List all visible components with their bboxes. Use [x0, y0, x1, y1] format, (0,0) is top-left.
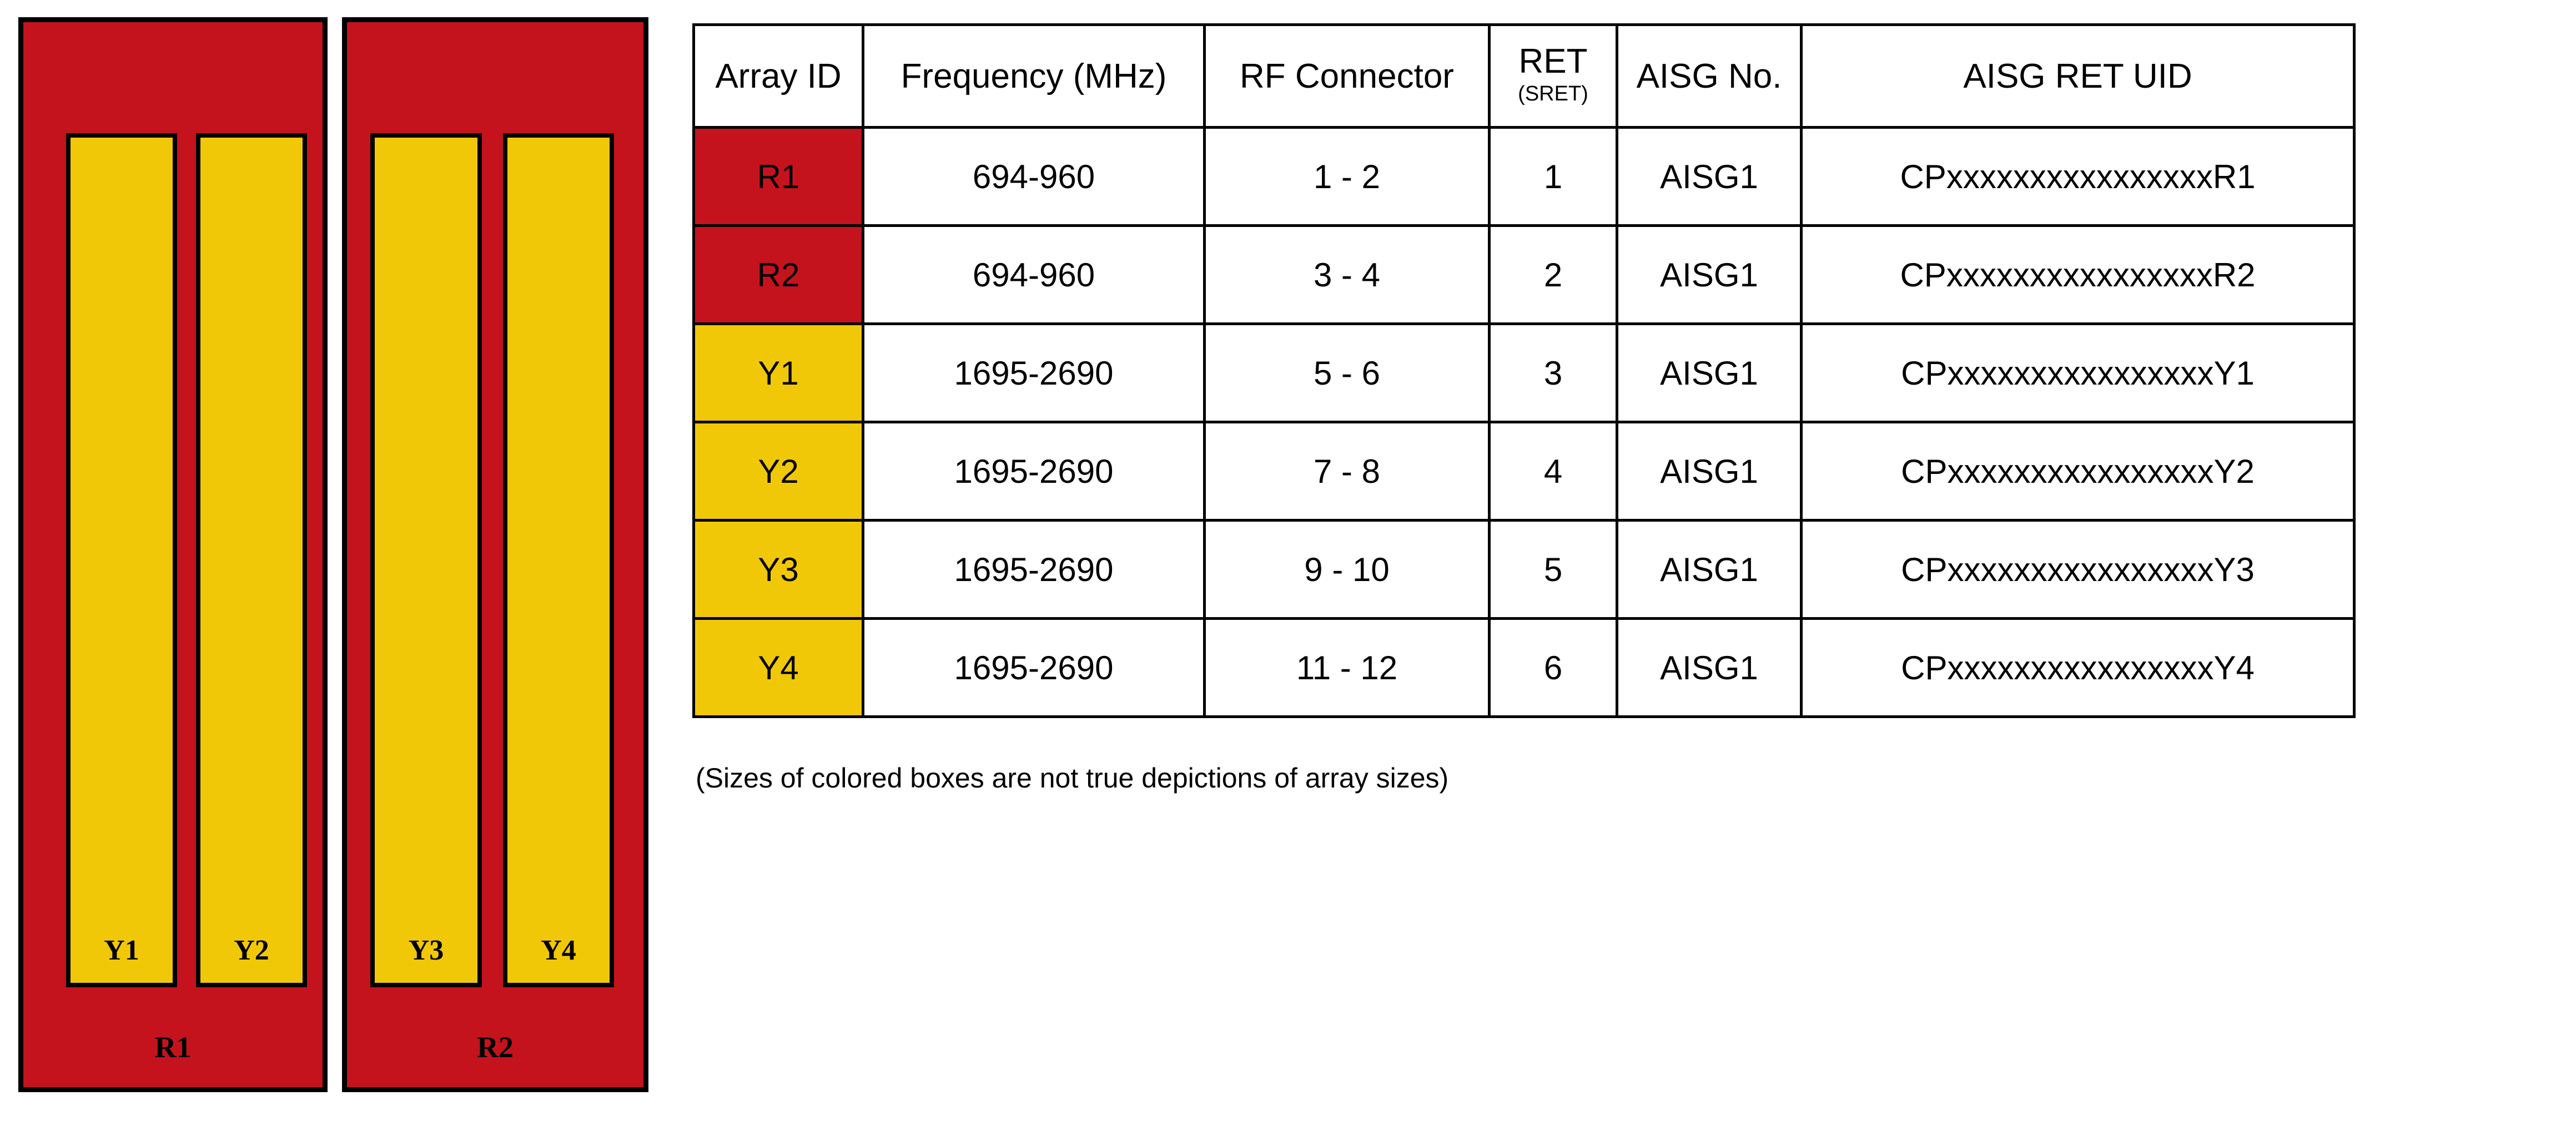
- array-bar-y2: Y2: [196, 133, 307, 987]
- array-bar-y1: Y1: [66, 133, 177, 987]
- table-row: R1694-9601 - 21AISG1CPxxxxxxxxxxxxxxxxR1: [694, 128, 2354, 226]
- antenna-panel-r1: Y1 Y2 R1: [18, 17, 328, 1092]
- table-row: Y21695-26907 - 84AISG1CPxxxxxxxxxxxxxxxx…: [694, 422, 2354, 521]
- cell-aisg-no: AISG1: [1617, 226, 1802, 324]
- cell-frequency: 1695-2690: [863, 324, 1205, 422]
- panel-label-r2: R2: [347, 1032, 643, 1062]
- cell-ret: 2: [1490, 226, 1617, 324]
- cell-ret: 1: [1490, 128, 1617, 226]
- array-spec-table-container: Array ID Frequency (MHz) RF Connector RE…: [692, 23, 2353, 718]
- cell-ret: 6: [1490, 619, 1617, 717]
- array-bar-label-y1: Y1: [71, 936, 173, 965]
- cell-array-id: Y2: [694, 422, 863, 521]
- cell-frequency: 694-960: [863, 226, 1205, 324]
- antenna-array-diagram: Y1 Y2 R1 Y3 Y4 R2: [0, 0, 688, 1121]
- cell-aisg-no: AISG1: [1617, 521, 1802, 619]
- cell-frequency: 1695-2690: [863, 422, 1205, 521]
- cell-array-id: Y4: [694, 619, 863, 717]
- cell-ret: 4: [1490, 422, 1617, 521]
- column-header-ret: RET (SRET): [1490, 25, 1617, 128]
- cell-aisg-ret-uid: CPxxxxxxxxxxxxxxxxY4: [1802, 619, 2354, 717]
- aisg-ret-uid-text: CPxxxxxxxxxxxxxxxxY4: [1901, 649, 2255, 686]
- cell-aisg-ret-uid: CPxxxxxxxxxxxxxxxxY2: [1802, 422, 2354, 521]
- cell-frequency: 1695-2690: [863, 521, 1205, 619]
- cell-aisg-ret-uid: CPxxxxxxxxxxxxxxxxY3: [1802, 521, 2354, 619]
- table-row: Y41695-269011 - 126AISG1CPxxxxxxxxxxxxxx…: [694, 619, 2354, 717]
- column-header-aisg-ret-uid: AISG RET UID: [1802, 25, 2354, 128]
- cell-array-id: Y1: [694, 324, 863, 422]
- array-bar-label-y2: Y2: [200, 936, 303, 965]
- cell-array-id: R1: [694, 128, 863, 226]
- array-bar-label-y3: Y3: [375, 936, 477, 965]
- aisg-ret-uid-text: CPxxxxxxxxxxxxxxxxY3: [1901, 551, 2255, 588]
- cell-ret: 3: [1490, 324, 1617, 422]
- cell-frequency: 1695-2690: [863, 619, 1205, 717]
- cell-rf-connector: 9 - 10: [1205, 521, 1490, 619]
- cell-aisg-no: AISG1: [1617, 128, 1802, 226]
- cell-rf-connector: 3 - 4: [1205, 226, 1490, 324]
- table-row: Y11695-26905 - 63AISG1CPxxxxxxxxxxxxxxxx…: [694, 324, 2354, 422]
- column-header-ret-main: RET: [1491, 43, 1616, 79]
- cell-aisg-no: AISG1: [1617, 619, 1802, 717]
- cell-ret: 5: [1490, 521, 1617, 619]
- table-row: R2694-9603 - 42AISG1CPxxxxxxxxxxxxxxxxR2: [694, 226, 2354, 324]
- aisg-ret-uid-text: CPxxxxxxxxxxxxxxxxR2: [1900, 256, 2255, 294]
- array-bar-y3: Y3: [370, 133, 482, 987]
- cell-rf-connector: 11 - 12: [1205, 619, 1490, 717]
- cell-rf-connector: 1 - 2: [1205, 128, 1490, 226]
- table-header: Array ID Frequency (MHz) RF Connector RE…: [694, 25, 2354, 128]
- column-header-array-id: Array ID: [694, 25, 863, 128]
- table-body: R1694-9601 - 21AISG1CPxxxxxxxxxxxxxxxxR1…: [694, 128, 2354, 717]
- aisg-ret-uid-text: CPxxxxxxxxxxxxxxxxR1: [1900, 158, 2255, 195]
- cell-aisg-ret-uid: CPxxxxxxxxxxxxxxxxR1: [1802, 128, 2354, 226]
- panel-label-r1: R1: [23, 1032, 323, 1062]
- array-bar-label-y4: Y4: [507, 936, 610, 965]
- column-header-aisg-no: AISG No.: [1617, 25, 1802, 128]
- cell-aisg-ret-uid: CPxxxxxxxxxxxxxxxxY1: [1802, 324, 2354, 422]
- table-row: Y31695-26909 - 105AISG1CPxxxxxxxxxxxxxxx…: [694, 521, 2354, 619]
- cell-rf-connector: 7 - 8: [1205, 422, 1490, 521]
- aisg-ret-uid-text: CPxxxxxxxxxxxxxxxxY1: [1901, 355, 2255, 392]
- table-header-row: Array ID Frequency (MHz) RF Connector RE…: [694, 25, 2354, 128]
- cell-array-id: Y3: [694, 521, 863, 619]
- cell-aisg-ret-uid: CPxxxxxxxxxxxxxxxxR2: [1802, 226, 2354, 324]
- cell-aisg-no: AISG1: [1617, 324, 1802, 422]
- column-header-ret-sub: (SRET): [1491, 79, 1616, 109]
- column-header-rf-connector: RF Connector: [1205, 25, 1490, 128]
- diagram-footnote: (Sizes of colored boxes are not true dep…: [696, 762, 1448, 794]
- cell-array-id: R2: [694, 226, 863, 324]
- cell-rf-connector: 5 - 6: [1205, 324, 1490, 422]
- column-header-frequency: Frequency (MHz): [863, 25, 1205, 128]
- cell-frequency: 694-960: [863, 128, 1205, 226]
- aisg-ret-uid-text: CPxxxxxxxxxxxxxxxxY2: [1901, 453, 2255, 490]
- array-spec-table: Array ID Frequency (MHz) RF Connector RE…: [692, 23, 2356, 718]
- cell-aisg-no: AISG1: [1617, 422, 1802, 521]
- antenna-panel-r2: Y3 Y4 R2: [342, 17, 648, 1092]
- array-bar-y4: Y4: [503, 133, 614, 987]
